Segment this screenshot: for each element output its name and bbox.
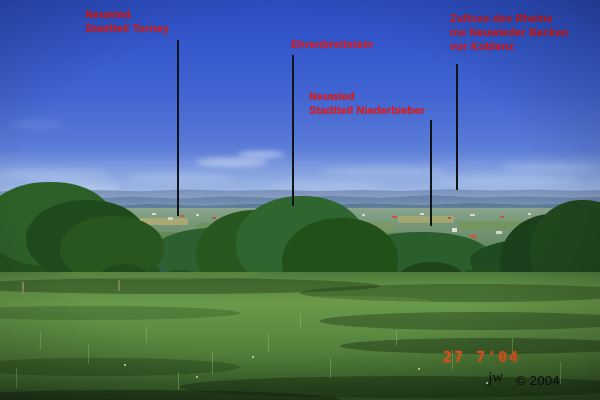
annotation-neuwied-niederbieber: Neuwied Stadtteil Niederbieber [309, 90, 425, 118]
annotation-ehrenbreitstein: Ehrenbreitstein [291, 38, 373, 52]
cloud [10, 122, 64, 127]
leader-line-zufluss [456, 64, 458, 190]
meadow-shadow-bands [0, 272, 600, 400]
fence-post [118, 280, 120, 291]
copyright-notice: © 2004 [516, 373, 560, 388]
camera-date-stamp: 27 7'04 [443, 348, 520, 366]
fence-post [22, 282, 24, 294]
leader-line-niederbieber [430, 120, 432, 226]
photographer-signature: jw [487, 368, 504, 388]
leader-line-torney [177, 40, 179, 216]
leader-line-ehrenbreitstein [292, 55, 294, 206]
annotation-neuwied-torney: Neuwied Stadtteil Torney [85, 8, 169, 36]
landscape-photo: Neuwied Stadtteil Torney Ehrenbreitstein… [0, 0, 600, 400]
annotation-zufluss-des-rheins: Zufluss des Rheins ins Neuwieder Becken … [450, 12, 569, 54]
